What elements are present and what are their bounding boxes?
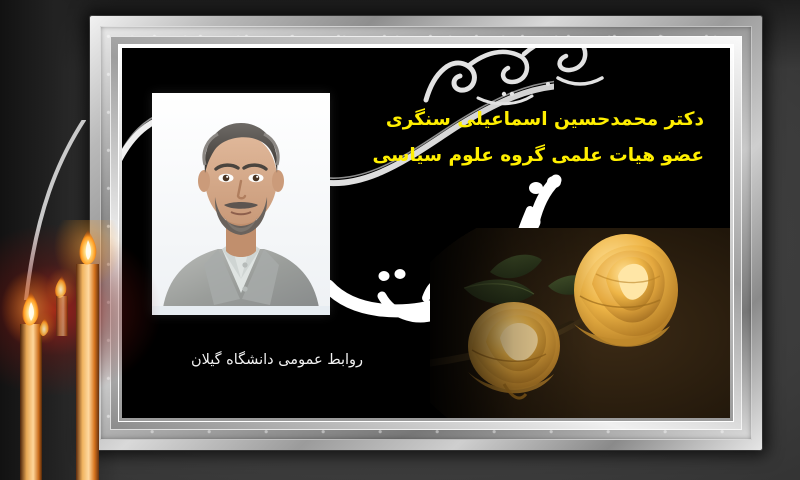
memorial-wish: روحش شاد و یادش گرامی	[282, 246, 702, 266]
memorial-banner: دکتر محمدحسین اسماعیلی سنگری عضو هیات عل…	[0, 0, 800, 480]
deceased-name: دکتر محمدحسین اسماعیلی سنگری	[284, 110, 704, 129]
issuer-label: روابط عمومی دانشگاه گیلان	[152, 353, 402, 369]
silver-picture-frame: دکتر محمدحسین اسماعیلی سنگری عضو هیات عل…	[90, 16, 762, 450]
card-canvas: دکتر محمدحسین اسماعیلی سنگری عضو هیات عل…	[122, 48, 730, 418]
deceased-role: عضو هیات علمی گروه علوم سیاسی	[284, 146, 704, 165]
hoalbaqi-calligraphy-icon	[408, 48, 618, 112]
